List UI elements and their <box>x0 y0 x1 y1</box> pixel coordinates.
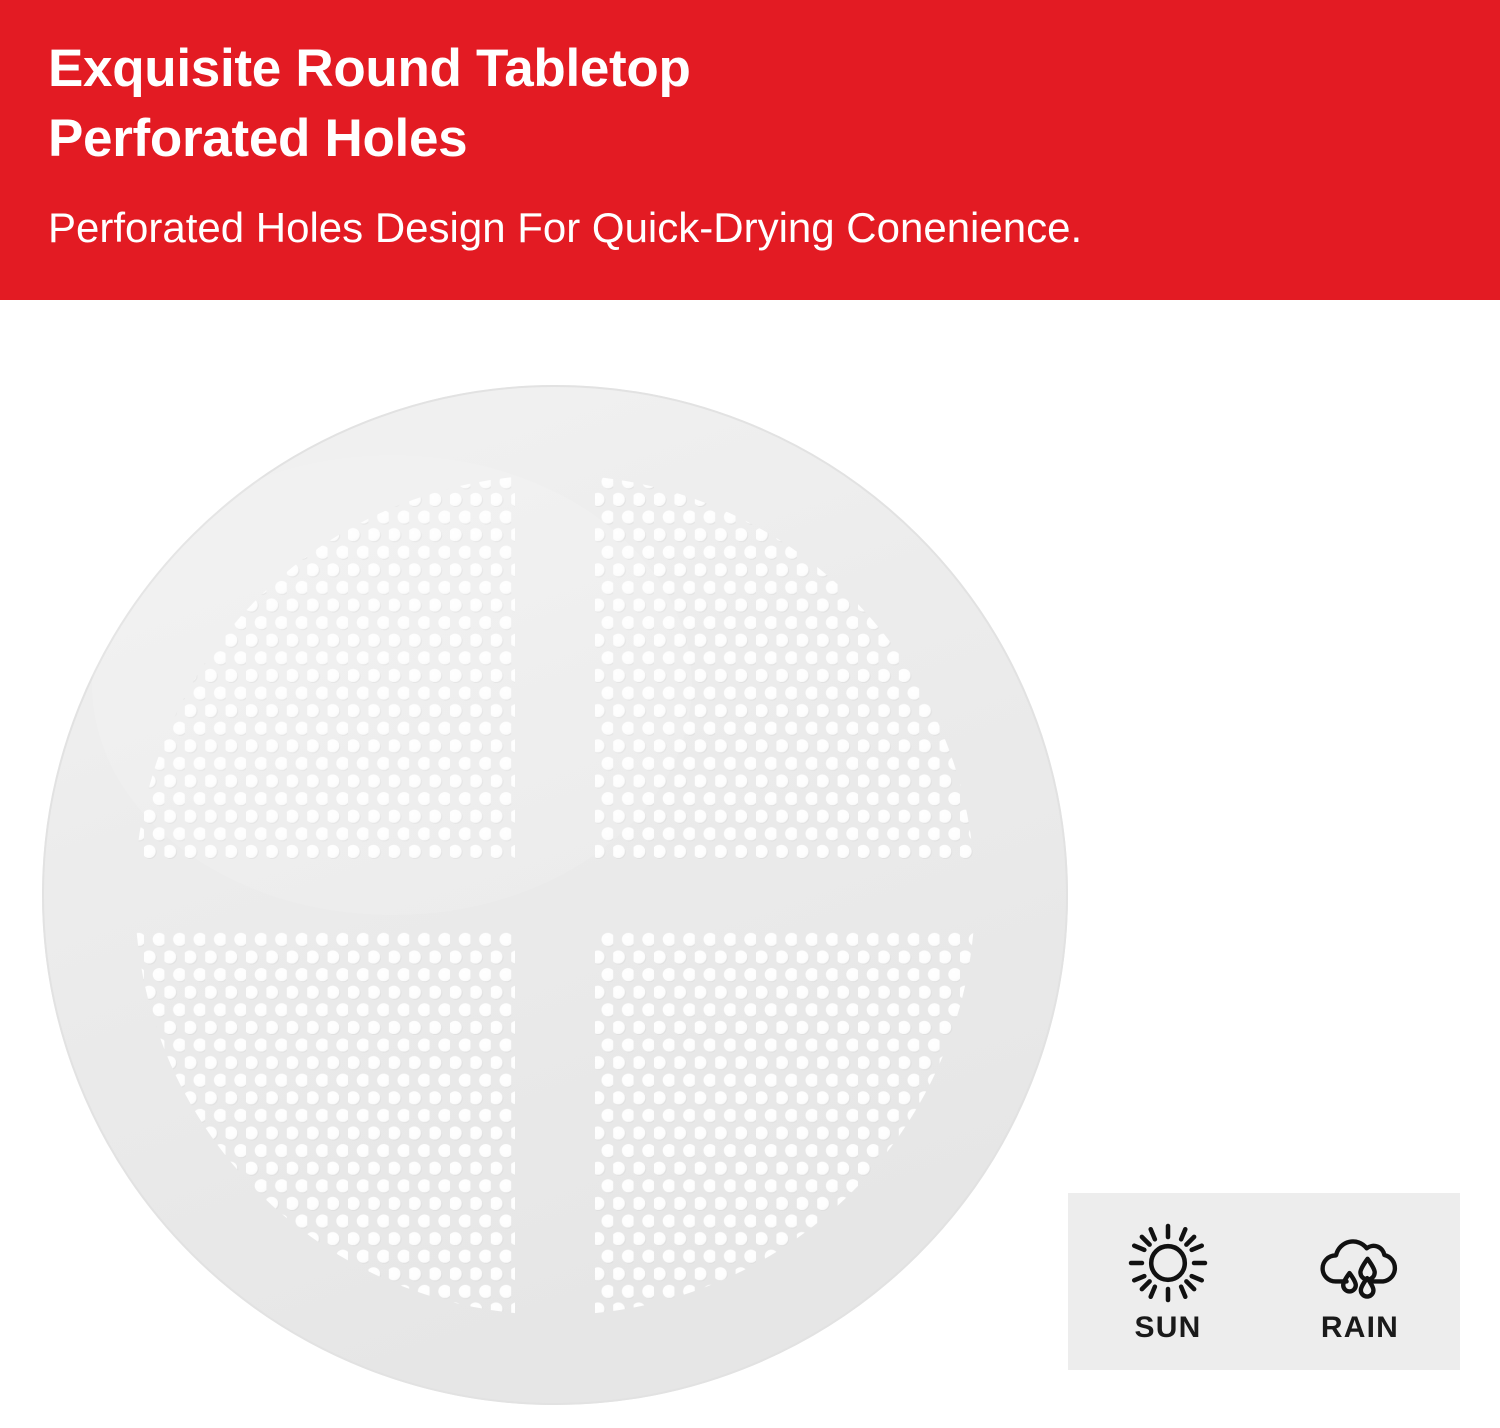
page-title: Exquisite Round Tabletop Perforated Hole… <box>48 34 1248 175</box>
product-feature-banner: Exquisite Round Tabletop Perforated Hole… <box>0 0 1500 1428</box>
sun-icon <box>1126 1221 1210 1305</box>
weather-label-sun: SUN <box>1135 1313 1202 1343</box>
weather-feature-badge: SUN RAIN <box>1068 1193 1460 1370</box>
product-image-stage: SUN RAIN <box>0 300 1500 1428</box>
header-band: Exquisite Round Tabletop Perforated Hole… <box>0 0 1500 300</box>
product-disc-image <box>42 385 1068 1405</box>
page-subtitle: Perforated Holes Design For Quick-Drying… <box>48 203 1448 253</box>
weather-item-sun: SUN <box>1108 1221 1228 1343</box>
weather-item-rain: RAIN <box>1300 1221 1420 1343</box>
rain-cloud-icon <box>1318 1221 1402 1305</box>
weather-label-rain: RAIN <box>1321 1313 1399 1343</box>
